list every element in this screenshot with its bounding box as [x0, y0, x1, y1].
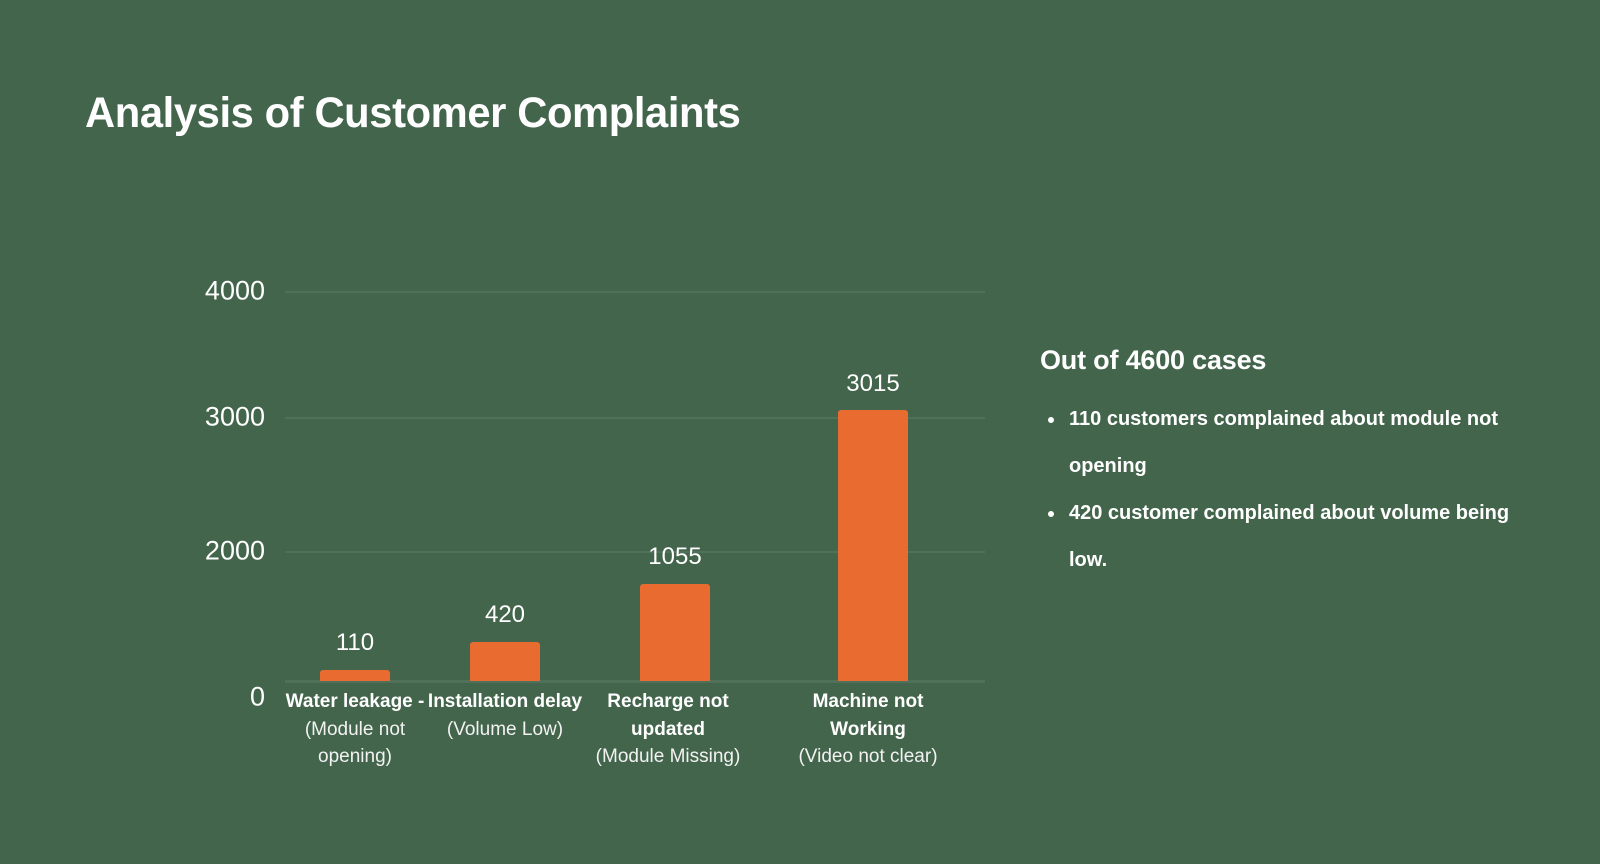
x-axis-label-main-1: Water leakage -	[275, 688, 435, 716]
x-axis-label-main-4: Machine not Working	[788, 688, 948, 743]
bar-recharge-not-updated[interactable]	[640, 584, 710, 681]
bar-water-leakage[interactable]	[320, 670, 390, 681]
y-tick-label-2000: 2000	[120, 536, 265, 567]
y-tick-label-0: 0	[120, 682, 265, 713]
x-axis-label-water-leakage: Water leakage - (Module not opening)	[275, 688, 435, 771]
x-axis-label-recharge-not-updated: Recharge not updated (Module Missing)	[588, 688, 748, 771]
x-axis-label-sub-1: (Module not opening)	[275, 716, 435, 771]
bar-chart: 4000 3000 2000 0 110 420 1055 3015	[0, 0, 1020, 864]
bar-value-label-2: 420	[485, 601, 525, 629]
list-item: 420 customer complained about volume bei…	[1040, 490, 1550, 584]
x-axis-label-main-3: Recharge not updated	[588, 688, 748, 743]
x-axis-label-sub-3: (Module Missing)	[588, 743, 748, 771]
bar-slot-installation-delay: 420	[435, 291, 575, 681]
y-tick-label-3000: 3000	[120, 402, 265, 433]
bar-value-label-1: 110	[336, 629, 374, 657]
summary-panel: Out of 4600 cases 110 customers complain…	[1040, 345, 1550, 584]
summary-heading: Out of 4600 cases	[1040, 345, 1550, 376]
x-axis-label-machine-not-working: Machine not Working (Video not clear)	[788, 688, 948, 771]
bar-slot-machine-not-working: 3015	[803, 291, 943, 681]
x-axis-label-sub-4: (Video not clear)	[788, 743, 948, 771]
bar-slot-water-leakage: 110	[285, 291, 425, 681]
summary-bullet-list: 110 customers complained about module no…	[1040, 396, 1550, 584]
x-axis-label-installation-delay: Installation delay (Volume Low)	[425, 688, 585, 743]
bullet-dot-icon	[1048, 417, 1054, 423]
bar-installation-delay[interactable]	[470, 642, 540, 681]
y-tick-label-4000: 4000	[120, 276, 265, 307]
bullet-dot-icon	[1048, 511, 1054, 517]
plot-area: 110 420 1055 3015	[285, 291, 985, 681]
bar-value-label-4: 3015	[846, 370, 899, 398]
x-axis-label-main-2: Installation delay	[425, 688, 585, 716]
list-item-text: 110 customers complained about module no…	[1069, 408, 1498, 477]
bar-value-label-3: 1055	[648, 543, 701, 571]
bar-slot-recharge-not-updated: 1055	[605, 291, 745, 681]
list-item: 110 customers complained about module no…	[1040, 396, 1550, 490]
bar-machine-not-working[interactable]	[838, 410, 908, 681]
x-axis-label-sub-2: (Volume Low)	[425, 716, 585, 744]
list-item-text: 420 customer complained about volume bei…	[1069, 502, 1509, 571]
